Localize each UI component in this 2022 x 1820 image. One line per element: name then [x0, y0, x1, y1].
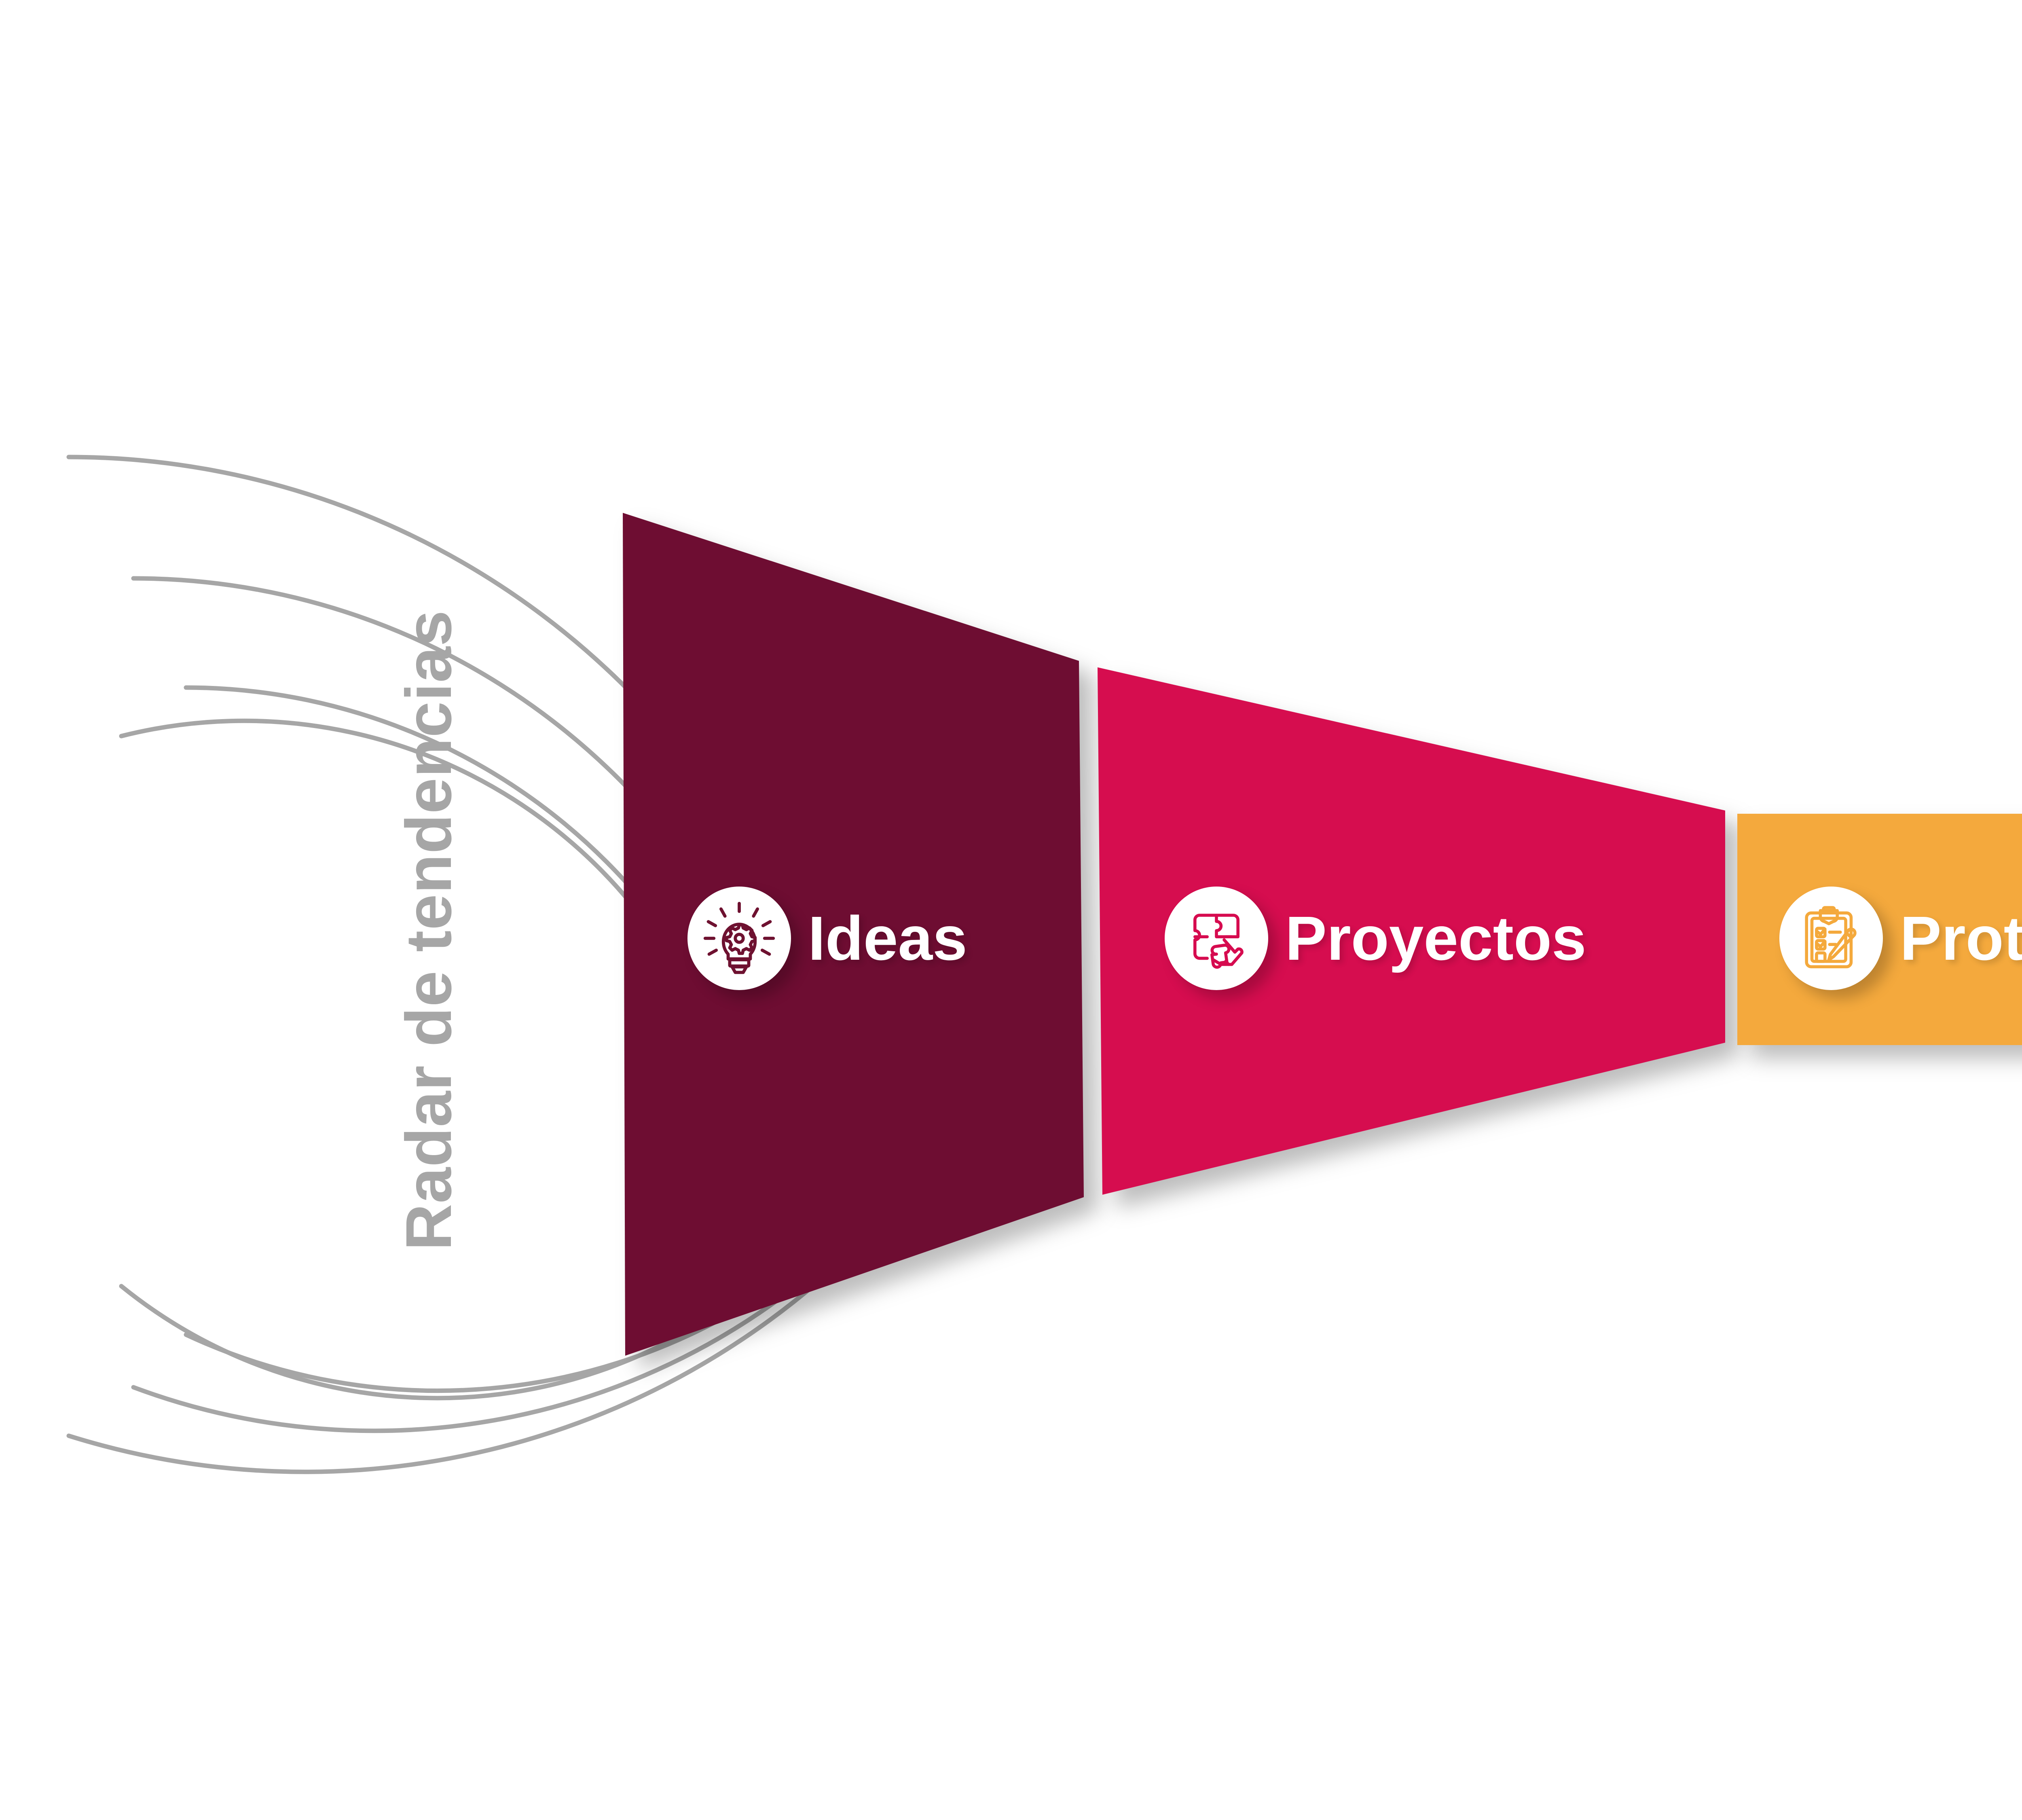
stage-label-prototipos: Prototipos: [1900, 907, 2022, 969]
stage-label-proyectos: Proyectos: [1285, 907, 1586, 969]
funnel-shapes: [0, 0, 2022, 1820]
stage-prototipos[interactable]: Prototipos: [1779, 887, 2022, 990]
puzzle-hand-icon: [1178, 900, 1255, 977]
clipboard-checklist-pencil-icon: [1793, 900, 1870, 977]
stage-label-ideas: Ideas: [808, 907, 967, 969]
radar-label: Radar de tendencias: [391, 610, 466, 1251]
diagram-canvas: Radar de tendencias Transferencia: [0, 0, 2022, 1820]
stage-ideas[interactable]: Ideas: [687, 887, 967, 990]
lightbulb-gear-icon-badge: [687, 887, 791, 990]
puzzle-hand-icon-badge: [1165, 887, 1268, 990]
lightbulb-gear-icon: [700, 899, 779, 978]
clipboard-checklist-pencil-icon-badge: [1779, 887, 1883, 990]
stage-proyectos[interactable]: Proyectos: [1165, 887, 1586, 990]
